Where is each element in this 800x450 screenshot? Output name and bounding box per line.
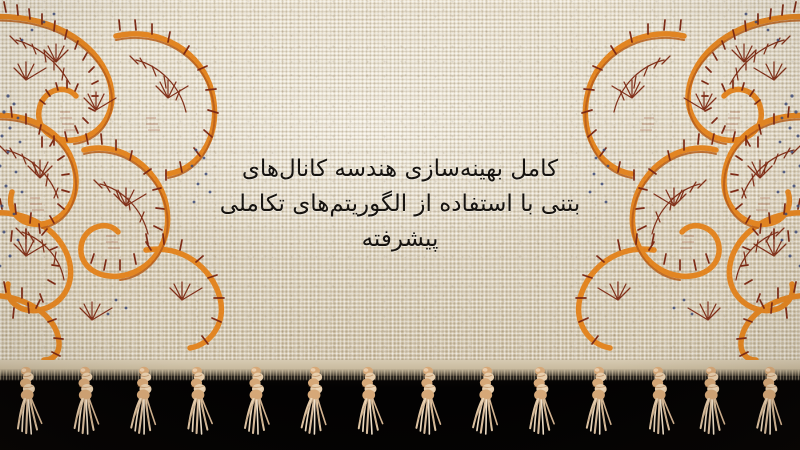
tassel (642, 366, 676, 438)
slide-canvas: کامل بهینه‌سازی هندسه کانال‌های بتنی با … (0, 0, 800, 450)
tassel (10, 366, 44, 438)
tassel (412, 366, 446, 438)
title-line-1: کامل بهینه‌سازی هندسه کانال‌های (0, 152, 800, 187)
tassel (181, 366, 215, 438)
tassel (299, 366, 333, 438)
tassel (240, 366, 274, 438)
tassel (128, 366, 162, 438)
tassel (524, 366, 558, 438)
cloth-edge-fuzz (0, 370, 800, 380)
tassel (69, 366, 103, 438)
title-line-3: پیشرفته (0, 222, 800, 257)
slide-title: کامل بهینه‌سازی هندسه کانال‌های بتنی با … (0, 152, 800, 257)
tassel (754, 366, 788, 438)
tassel (695, 366, 729, 438)
title-line-2: بتنی با استفاده از الگوریتم‌های تکاملی (0, 187, 800, 222)
tassel (583, 366, 617, 438)
tassel (471, 366, 505, 438)
tassel (352, 366, 386, 438)
